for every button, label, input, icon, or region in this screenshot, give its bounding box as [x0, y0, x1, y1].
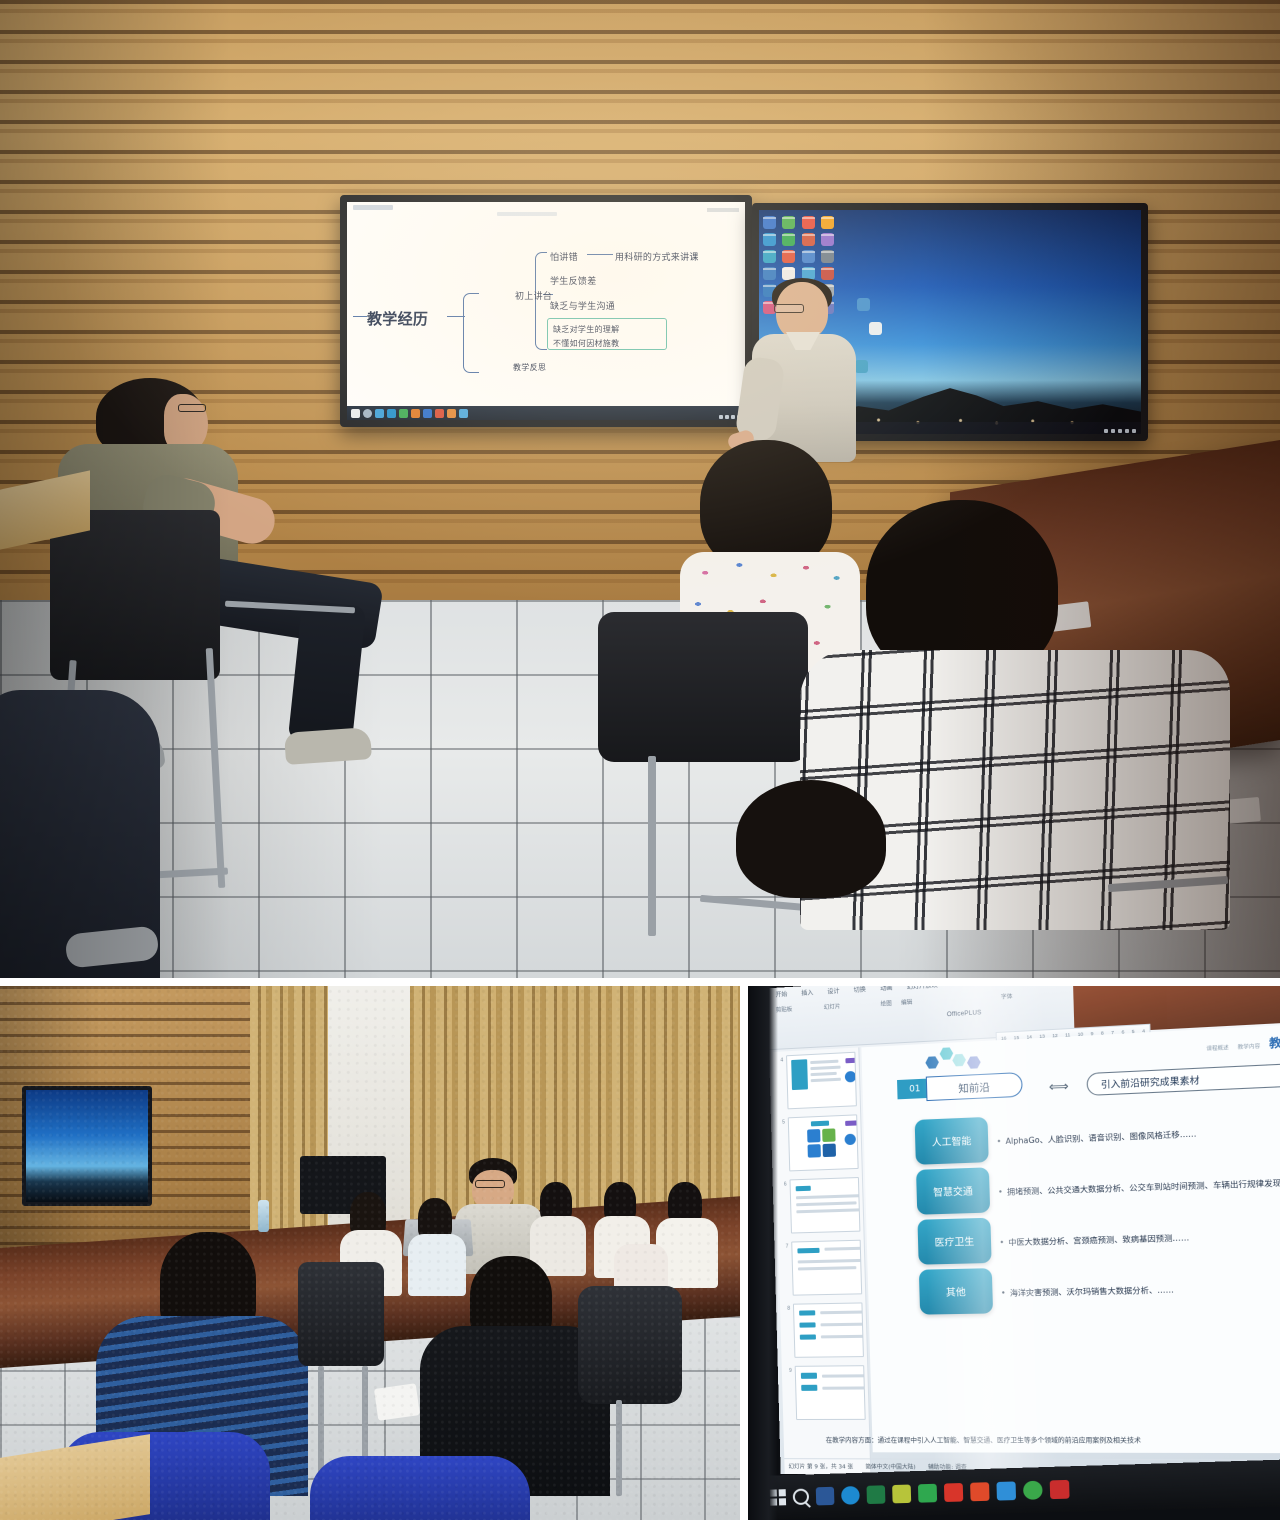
thumb-shape [857, 1134, 859, 1145]
thumbnail-number: 6 [780, 1180, 788, 1234]
ribbon-group-drawing[interactable]: 绘图 编辑 [880, 998, 912, 1008]
thumb-shape [808, 1144, 821, 1158]
display-wallpaper [26, 1090, 148, 1202]
chair-leg [616, 1400, 622, 1496]
thumb-shape [845, 1120, 859, 1126]
chair-seat-blue [310, 1456, 530, 1520]
category-ai: 人工智能 [915, 1117, 989, 1165]
chair-backrest [298, 1262, 384, 1366]
bullet-column: •AlphaGo、人脸识别、语音识别、图像风格迁移…… •拥堵预测、公共交通大数… [996, 1102, 1280, 1318]
thumb-shape [799, 1310, 815, 1315]
word-icon[interactable] [816, 1487, 835, 1506]
thumbnail-preview[interactable] [793, 1302, 864, 1357]
thumbnail-preview[interactable] [788, 1114, 859, 1171]
attendee-body [408, 1234, 466, 1296]
section-title: 知前沿 [926, 1072, 1023, 1101]
photo-top-classroom: 教学经历 初上讲台 教学反思 怕讲错 学生反馈差 缺乏与学生沟通 缺乏对学生的理… [0, 0, 1280, 978]
bullet-row-transport: •拥堵预测、公共交通大数据分析、公交车到站时间预测、车辆出行规律发现…… [997, 1155, 1280, 1217]
group-label-clipboard: 剪贴板 [776, 1005, 793, 1014]
thumb-shape [811, 1072, 837, 1076]
slide-notes-text: 在教学内容方面：通过在课程中引入人工智能、智慧交通、医疗卫生等多个领域的前沿应用… [826, 1435, 1280, 1445]
thumb-shape [798, 1266, 856, 1270]
thumbnail-item[interactable]: 5 [775, 1110, 862, 1176]
thumbnail-item[interactable]: 8 [780, 1298, 867, 1362]
thumbnail-number: 8 [783, 1304, 791, 1358]
breadcrumb-item-1: 课程概述 [1206, 1044, 1229, 1053]
thumb-shape [797, 1248, 819, 1254]
excel-icon[interactable] [866, 1485, 885, 1504]
lighting-overlay [0, 0, 1280, 978]
thumb-shape [796, 1186, 811, 1192]
thumbnail-number: 5 [778, 1117, 786, 1171]
thumb-shape [791, 1059, 808, 1090]
group-label-drawing: 绘图 [880, 999, 891, 1008]
thumbnail-preview[interactable] [786, 1052, 857, 1110]
thumbnail-preview[interactable] [789, 1177, 860, 1234]
bullet-dot: • [1001, 1287, 1006, 1299]
bullet-dot: • [998, 1186, 1003, 1198]
tab-design[interactable]: 设计 [827, 986, 839, 996]
photo-collage: 教学经历 初上讲台 教学反思 怕讲错 学生反馈差 缺乏与学生沟通 缺乏对学生的理… [0, 0, 1280, 1520]
powerpoint-window[interactable]: 开始 插入 设计 切换 动画 幻灯片放映 剪贴板 幻灯片 绘图 编辑 [767, 986, 1280, 1477]
category-transport: 智慧交通 [916, 1167, 990, 1214]
photo-bottom-right-powerpoint: 开始 插入 设计 切换 动画 幻灯片放映 剪贴板 幻灯片 绘图 编辑 [748, 986, 1280, 1520]
thumb-shape [810, 1060, 838, 1064]
slide-breadcrumb: 课程概述 教学内容 教学 [1206, 1033, 1280, 1054]
bullet-text: AlphaGo、人脸识别、语音识别、图像风格迁移…… [1005, 1128, 1196, 1147]
thumbnail-number: 7 [781, 1242, 789, 1296]
acrobat-icon[interactable] [1050, 1480, 1070, 1499]
thumbnail-item[interactable]: 6 [776, 1173, 863, 1238]
thumb-shape [811, 1121, 829, 1127]
bezel-left-edge [748, 986, 778, 1520]
status-language[interactable]: 简体中文(中国大陆) [865, 1462, 916, 1470]
thumbnail-preview[interactable] [791, 1240, 862, 1296]
media-icon[interactable] [970, 1482, 989, 1501]
ribbon-group-font[interactable]: 字体 [1001, 992, 1013, 1001]
thumb-shape [796, 1194, 860, 1199]
thumb-shape [824, 1247, 862, 1251]
edge-icon[interactable] [841, 1486, 860, 1505]
ribbon-tab-strip[interactable]: 开始 插入 设计 切换 动画 幻灯片放映 [775, 986, 938, 999]
tab-animation[interactable]: 动画 [880, 986, 893, 993]
thumb-shape [796, 1201, 856, 1206]
ribbon-group-clipboard[interactable]: 剪贴板 [776, 1005, 793, 1014]
notebook [374, 1383, 420, 1421]
tab-insert[interactable]: 插入 [801, 988, 813, 998]
thumb-shape [820, 1310, 864, 1314]
wechat-icon[interactable] [918, 1484, 937, 1503]
thumb-shape [822, 1386, 865, 1389]
wps-icon[interactable] [1023, 1481, 1043, 1500]
bullet-text: 海洋灾害预测、沃尔玛销售大数据分析、…… [1010, 1284, 1174, 1299]
status-slide-position: 幻灯片 第 9 张，共 34 张 [788, 1462, 853, 1470]
bullet-text: 中医大数据分析、宫颈癌预测、致病基因预测…… [1008, 1232, 1189, 1249]
chair-leg [318, 1366, 324, 1476]
officeplus-brand-label: OfficePLUS [947, 1010, 982, 1018]
thumb-shape [844, 1134, 855, 1146]
group-label-font: 字体 [1001, 992, 1013, 1001]
chair-backrest [578, 1286, 682, 1404]
thumb-shape [822, 1374, 865, 1377]
thumb-shape [821, 1323, 864, 1327]
tab-slideshow[interactable]: 幻灯片放映 [907, 986, 938, 991]
thumbnail-number: 9 [785, 1366, 793, 1420]
thumb-shape [801, 1385, 817, 1391]
breadcrumb-item-2: 教学内容 [1238, 1042, 1261, 1051]
breadcrumb-current: 教学 [1269, 1033, 1280, 1051]
thumb-shape [798, 1259, 862, 1264]
bullet-row-medical: •中医大数据分析、宫颈癌预测、致病基因预测…… [999, 1208, 1280, 1268]
category-column: 人工智能 智慧交通 医疗卫生 其他 [915, 1117, 994, 1320]
thumb-shape [811, 1078, 841, 1082]
eyeglasses [475, 1180, 505, 1188]
photo-bottom-left-seminar [0, 986, 740, 1520]
antivirus-icon[interactable] [944, 1483, 963, 1502]
thumb-shape [823, 1144, 836, 1158]
search-icon[interactable] [793, 1489, 810, 1506]
slide-thumbnail-pane[interactable]: 4 5 [773, 1047, 871, 1474]
thumb-shape [796, 1208, 860, 1213]
decorative-hexagons [925, 1042, 1009, 1073]
thumb-shape [845, 1071, 856, 1083]
bullet-row-ai: •AlphaGo、人脸识别、语音识别、图像风格迁移…… [996, 1102, 1280, 1167]
water-bottle [258, 1200, 269, 1232]
thumb-shape [822, 1128, 835, 1142]
slide-editing-canvas[interactable]: 课程概述 教学内容 教学 01 知前沿 ⟺ 引入前沿研究成果素材 人工智能 智慧… [861, 1024, 1280, 1453]
hexagon-shape [939, 1047, 953, 1061]
thumbnail-item[interactable]: 4 [773, 1047, 860, 1113]
thumb-shape [810, 1066, 840, 1071]
hexagon-shape [967, 1055, 981, 1069]
ribbon-right-labels [1084, 986, 1280, 991]
ppt-icon[interactable] [892, 1485, 911, 1504]
category-medical: 医疗卫生 [917, 1218, 991, 1265]
sogou-icon[interactable] [996, 1481, 1016, 1500]
bullet-text: 拥堵预测、公共交通大数据分析、公交车到站时间预测、车辆出行规律发现…… [1007, 1176, 1280, 1197]
category-other: 其他 [919, 1268, 993, 1315]
thumb-shape [799, 1322, 815, 1327]
hexagon-shape [925, 1056, 939, 1070]
group-label-slides: 幻灯片 [824, 1002, 841, 1011]
ribbon-group-slides[interactable]: 幻灯片 [824, 1002, 841, 1011]
thumb-shape [821, 1335, 864, 1339]
wall-display[interactable] [22, 1086, 152, 1206]
thumb-shape [801, 1373, 817, 1379]
thumb-shape [856, 1072, 857, 1083]
thumbnail-item[interactable]: 9 [782, 1361, 869, 1424]
thumb-shape [845, 1057, 856, 1063]
bullet-dot: • [996, 1136, 1001, 1148]
bullet-row-other: •海洋灾害预测、沃尔玛销售大数据分析、…… [1000, 1260, 1280, 1318]
tab-transition[interactable]: 切换 [854, 986, 866, 994]
hexagon-shape [952, 1053, 966, 1067]
ribbon-label-a [1084, 986, 1090, 991]
thumb-shape [807, 1129, 820, 1143]
thumb-shape [800, 1334, 816, 1339]
thumbnail-preview-active[interactable] [795, 1365, 866, 1420]
callout-text: 引入前沿研究成果素材 [1086, 1062, 1280, 1096]
thumbnail-item[interactable]: 7 [778, 1236, 865, 1300]
bullet-dot: • [999, 1237, 1004, 1249]
double-arrow-icon: ⟺ [1035, 1078, 1083, 1094]
group-label-editing: 编辑 [901, 998, 913, 1007]
